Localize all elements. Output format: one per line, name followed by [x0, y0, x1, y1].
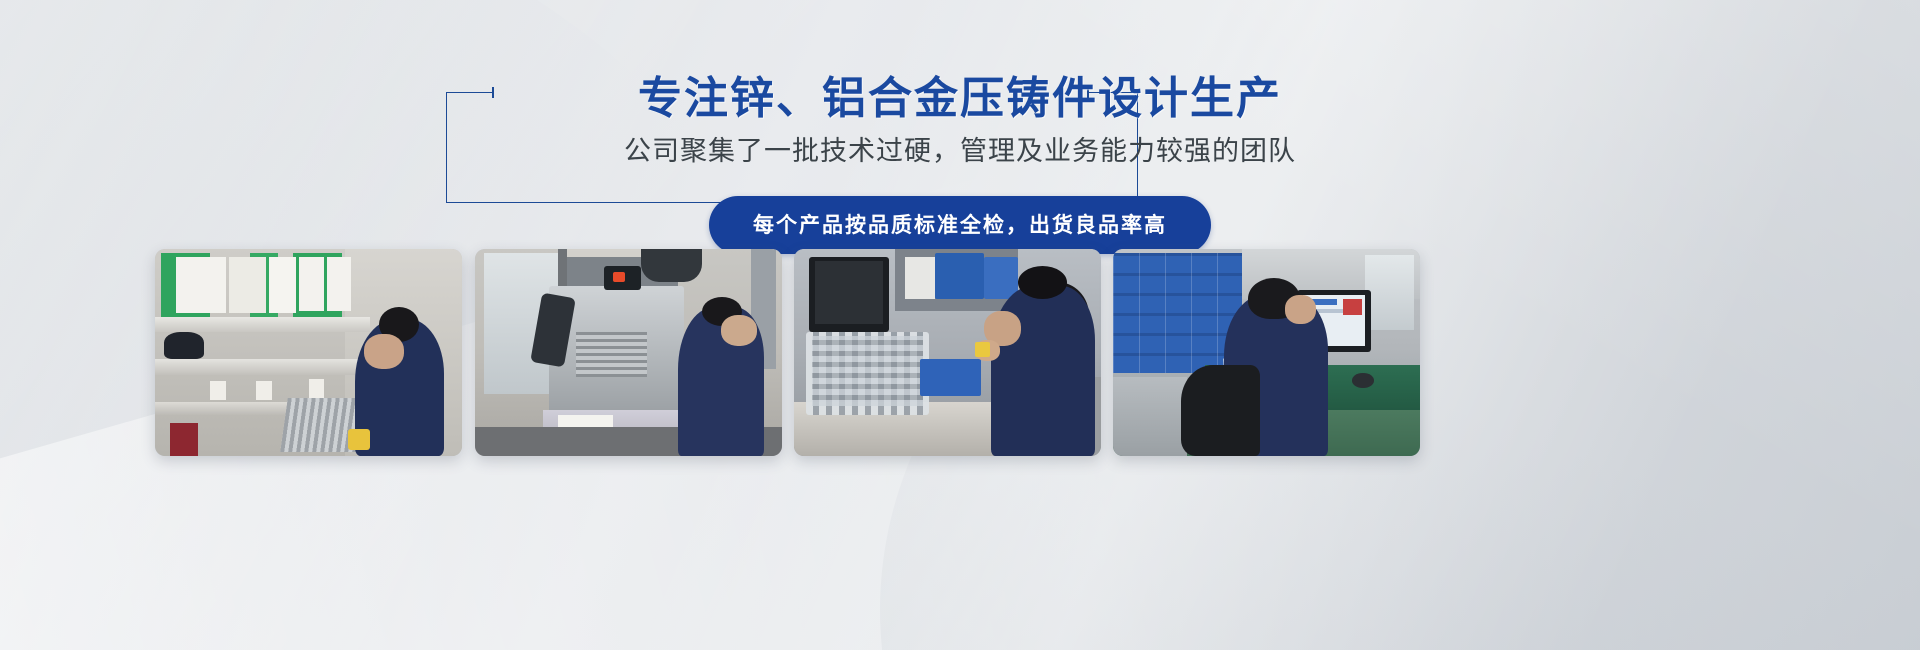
quality-badge: 每个产品按品质标准全检，出货良品率高	[709, 196, 1211, 254]
headline-block: 专注锌、铝合金压铸件设计生产 公司聚集了一批技术过硬，管理及业务能力较强的团队 …	[0, 56, 1920, 226]
photo-die-casting-machine	[475, 249, 782, 456]
photo-inspection-shelves	[155, 249, 462, 456]
photo-strip	[0, 249, 1920, 459]
badge-container: 每个产品按品质标准全检，出货良品率高	[0, 196, 1920, 254]
banner-subtitle: 公司聚集了一批技术过硬，管理及业务能力较强的团队	[0, 132, 1920, 170]
promo-banner: 专注锌、铝合金压铸件设计生产 公司聚集了一批技术过硬，管理及业务能力较强的团队 …	[0, 0, 1920, 650]
photo-packing-qc	[794, 249, 1101, 456]
photo-office-workstation	[1113, 249, 1420, 456]
banner-title: 专注锌、铝合金压铸件设计生产	[0, 72, 1920, 126]
